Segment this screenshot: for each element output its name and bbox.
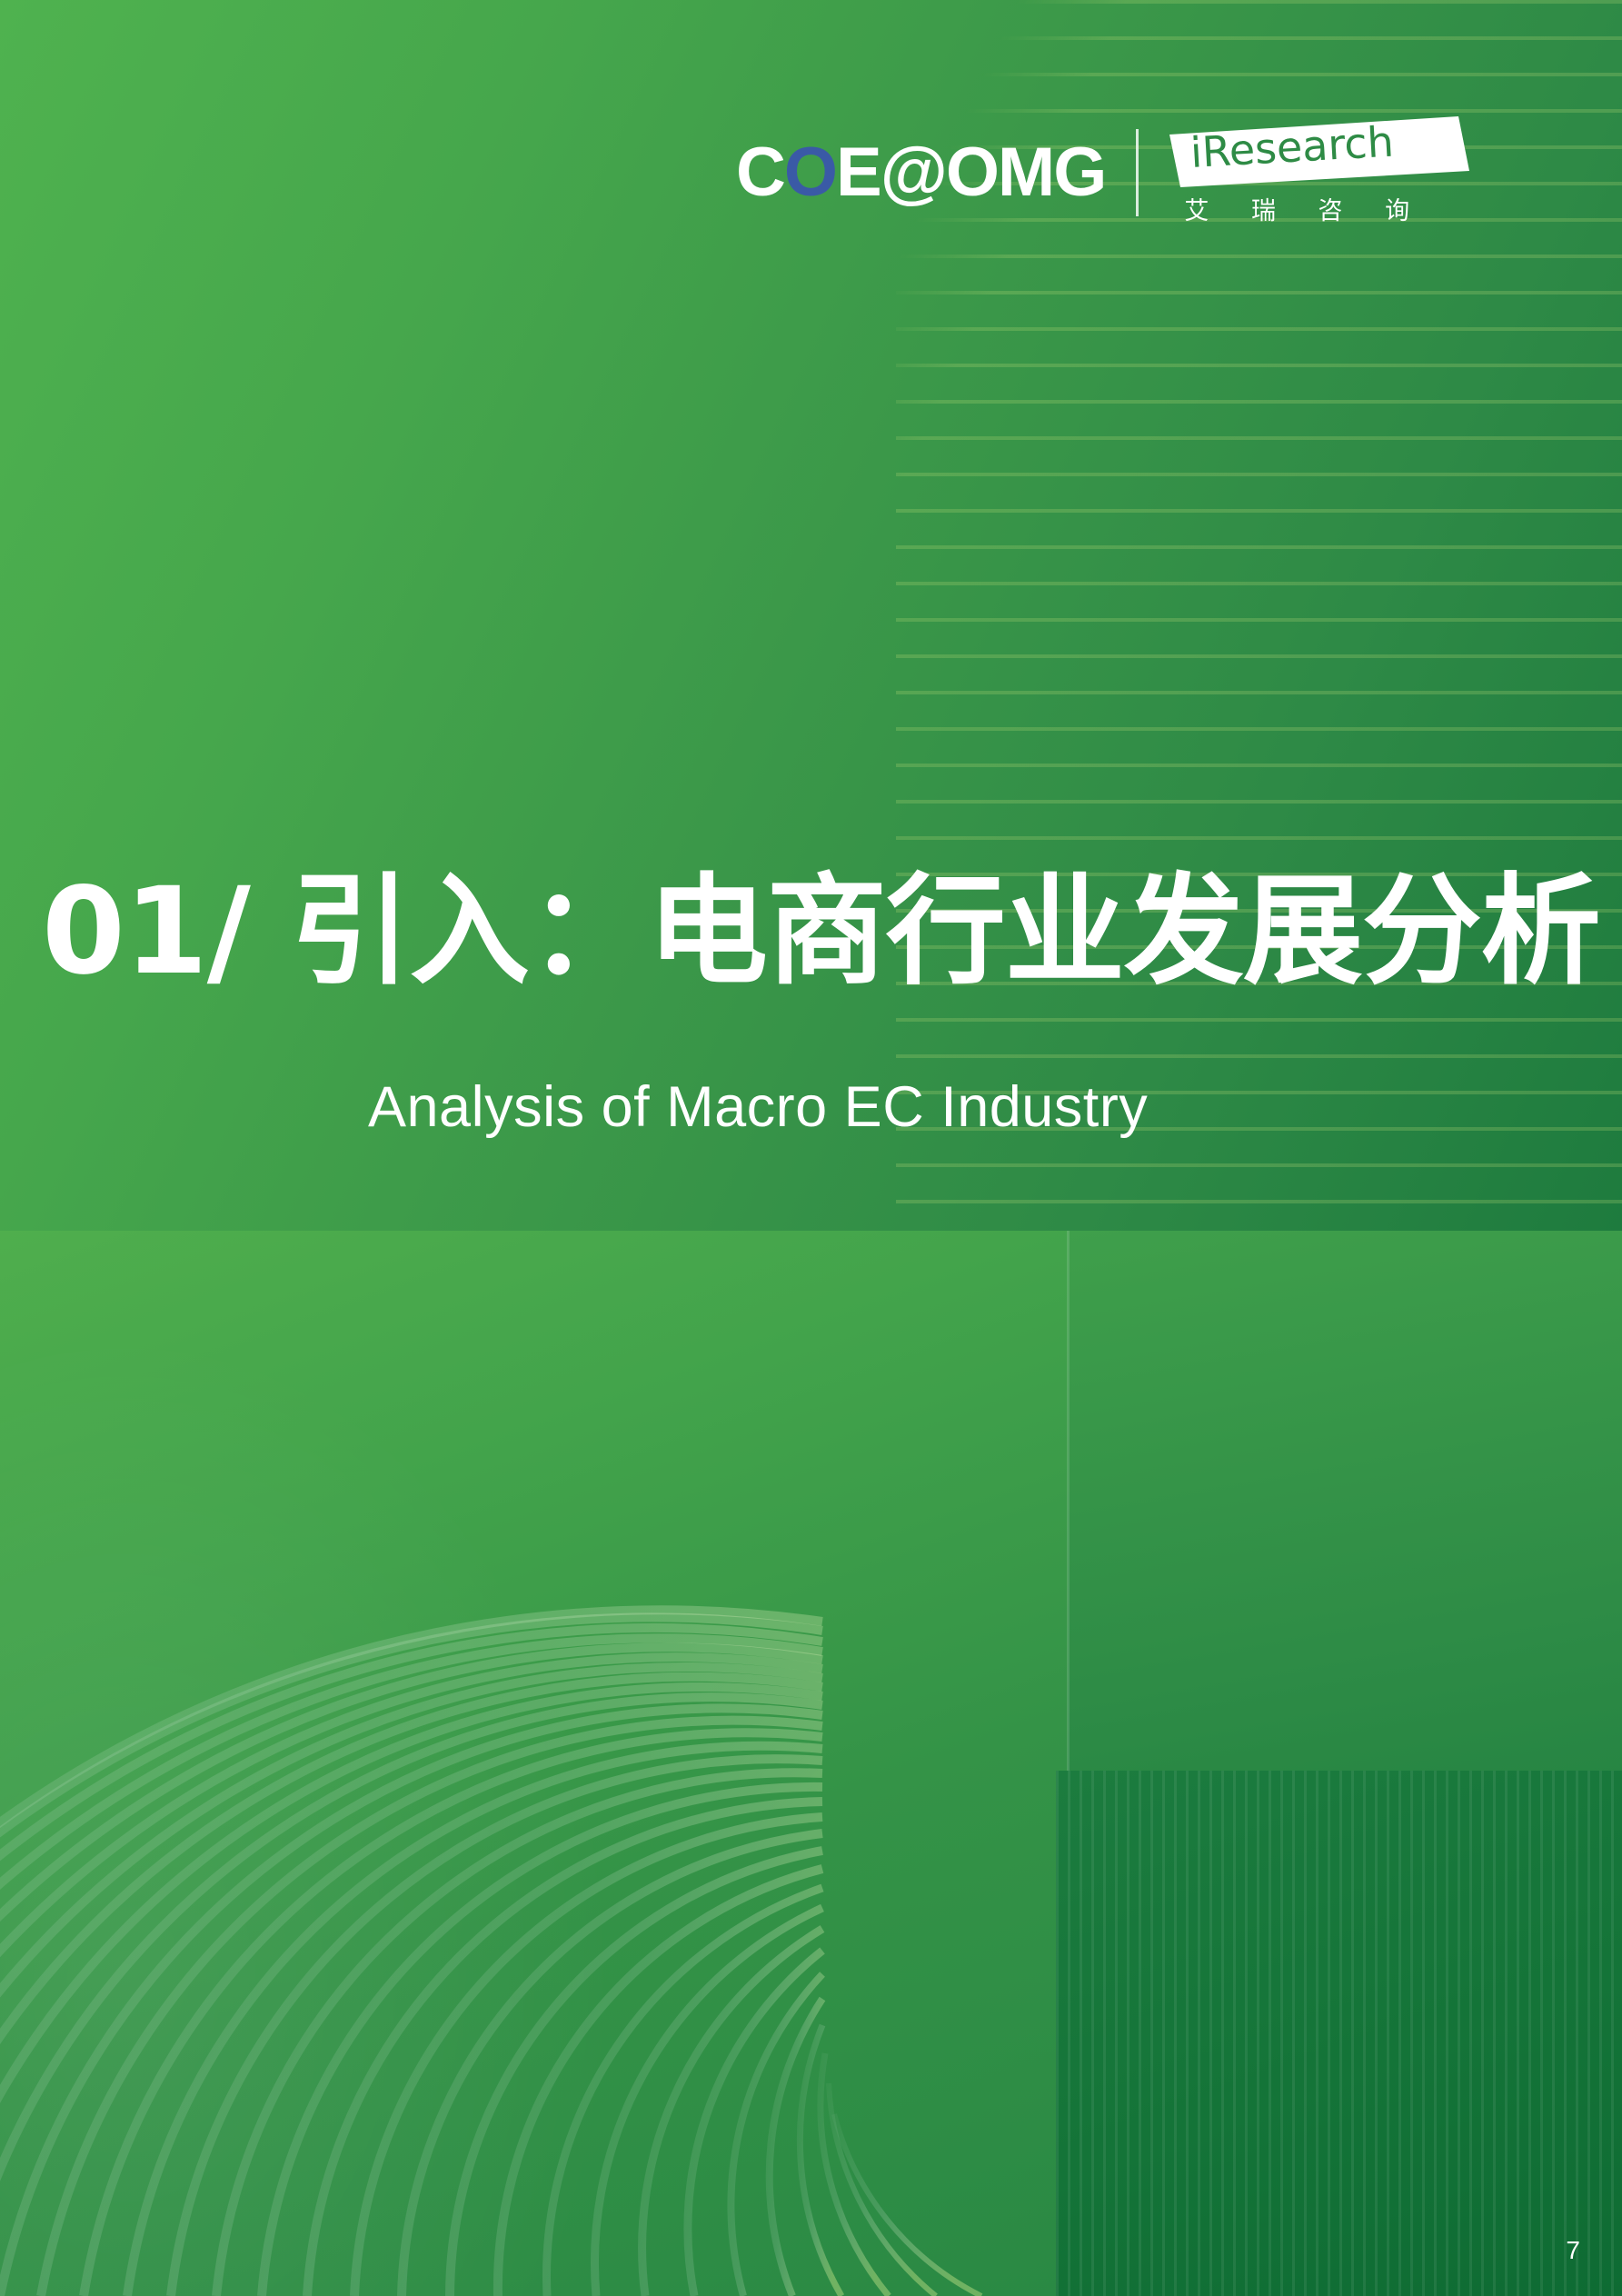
coe-logo-part-1: C [736, 138, 784, 207]
bottom-right-striped-block [1056, 1771, 1622, 2296]
coe-logo-part-3: E@OMG [836, 138, 1105, 207]
page-title: 01/ 引入：电商行业发展分析 [42, 865, 1587, 1000]
fan-arc-decoration [0, 1231, 1068, 2296]
coe-logo-blue-o: O [784, 138, 836, 207]
logo-bar: COE@OMG iResearch 艾 瑞 咨 询 [736, 118, 1469, 227]
page-subtitle: Analysis of Macro EC Industry [368, 1076, 1148, 1139]
coe-omg-logo: COE@OMG [736, 138, 1105, 207]
iresearch-banner-icon: iResearch [1169, 116, 1469, 187]
logo-separator [1136, 129, 1139, 216]
page-number: 7 [1566, 2238, 1580, 2263]
iresearch-logo: iResearch 艾 瑞 咨 询 [1169, 116, 1469, 229]
vertical-stripes-pattern [1056, 1771, 1622, 2296]
slide-page: COE@OMG iResearch 艾 瑞 咨 询 01/ 引入：电商行业发展分… [0, 0, 1622, 2296]
vertical-divider [1067, 1231, 1070, 1771]
iresearch-chinese-name: 艾 瑞 咨 询 [1184, 191, 1457, 226]
